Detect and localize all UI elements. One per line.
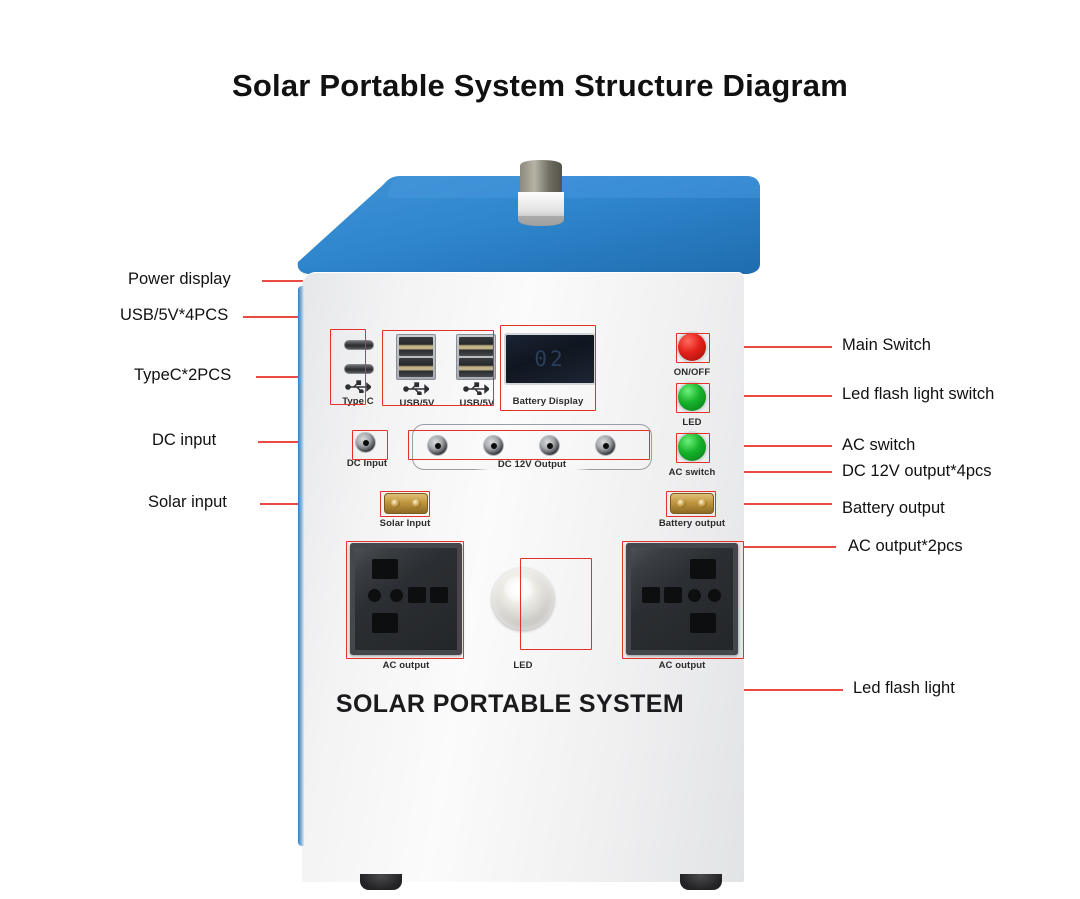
highlight-ac-switch <box>676 433 710 463</box>
highlight-ac-output-left <box>346 541 464 659</box>
solar-input-label: Solar Input <box>366 518 444 529</box>
highlight-type-c <box>330 329 366 405</box>
highlight-led-lamp <box>520 558 592 650</box>
callout-main-switch: Main Switch <box>842 336 931 355</box>
solar-portable-system-device: Type C USB/5V <box>288 168 788 758</box>
highlight-usb-group <box>382 330 494 406</box>
callout-usb-5v-4pcs: USB/5V*4PCS <box>120 306 228 325</box>
ac-output-left-label: AC output <box>358 660 454 671</box>
ac-output-right-label: AC output <box>634 660 730 671</box>
callout-dc-12v-output-4pcs: DC 12V output*4pcs <box>842 462 992 481</box>
led-lamp-label: LED <box>488 660 558 671</box>
callout-ac-output-2pcs: AC output*2pcs <box>848 537 963 556</box>
callout-battery-output: Battery output <box>842 499 945 518</box>
highlight-battery-output <box>666 491 716 517</box>
highlight-led-switch <box>676 383 710 413</box>
device-foot-left <box>360 874 402 890</box>
highlight-solar-input <box>380 491 430 517</box>
page-title: Solar Portable System Structure Diagram <box>0 68 1080 104</box>
callout-ac-switch: AC switch <box>842 436 915 455</box>
highlight-ac-output-right <box>622 541 744 659</box>
callout-dc-input: DC input <box>152 431 216 450</box>
diagram-canvas: Solar Portable System Structure Diagram <box>0 0 1080 899</box>
callout-solar-input: Solar input <box>148 493 227 512</box>
ac-switch-label: AC switch <box>656 467 728 478</box>
highlight-main-switch <box>676 333 710 363</box>
callout-power-display: Power display <box>128 270 231 289</box>
callout-led-flash-light-switch: Led flash light switch <box>842 385 994 404</box>
led-switch-label: LED <box>658 417 726 428</box>
highlight-dc-12v-output <box>408 430 650 460</box>
on-off-label: ON/OFF <box>658 367 726 378</box>
highlight-dc-input <box>352 430 388 460</box>
battery-output-label: Battery output <box>640 518 744 529</box>
callout-led-flash-light: Led flash light <box>853 679 955 698</box>
dc-12v-output-label: DC 12V Output <box>474 459 590 470</box>
front-panel-content: Type C USB/5V <box>288 168 788 768</box>
callout-typec-2pcs: TypeC*2PCS <box>134 366 231 385</box>
device-foot-right <box>680 874 722 890</box>
highlight-battery-display <box>500 325 596 411</box>
brand-text: SOLAR PORTABLE SYSTEM <box>274 690 746 719</box>
